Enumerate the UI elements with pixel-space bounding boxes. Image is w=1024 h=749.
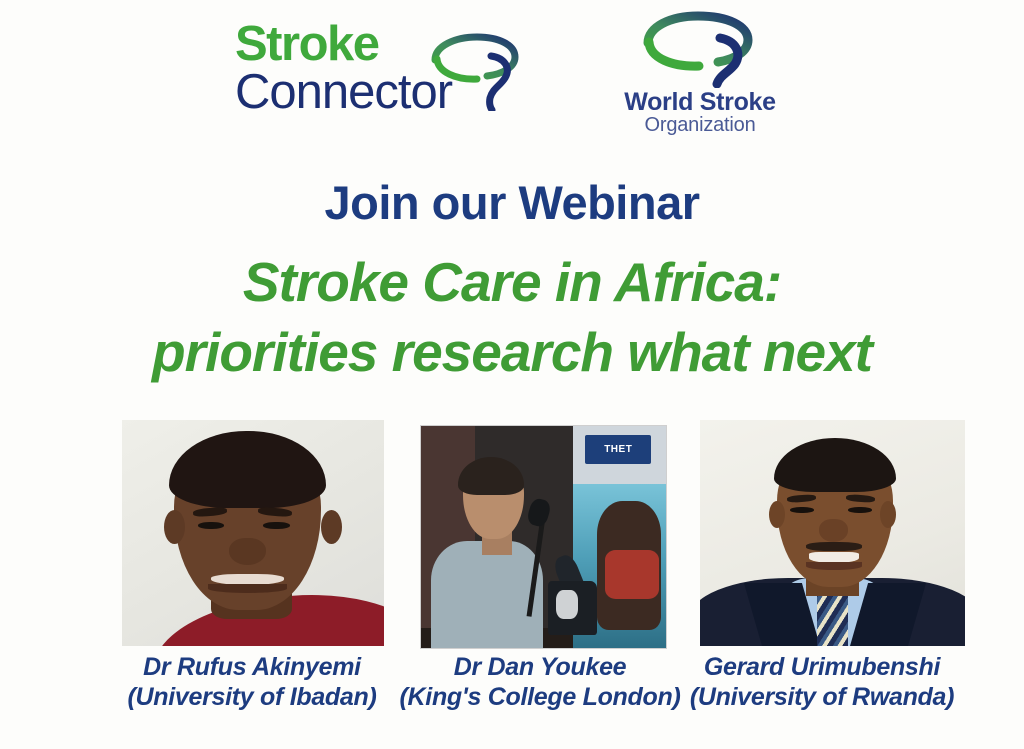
world-stroke-organization-logo: World Stroke Organization: [600, 10, 800, 140]
photo-ear-left: [164, 510, 185, 544]
speaker-affiliation-3: (University of Rwanda): [672, 682, 972, 712]
world-stroke-brain-swoosh-icon: [636, 10, 764, 88]
webinar-poster: Stroke Connector: [0, 0, 1024, 749]
speaker-name-3: Gerard Urimubenshi: [672, 652, 972, 682]
stroke-connector-logo: Stroke Connector: [235, 18, 535, 128]
webinar-title-line-1: Stroke Care in Africa:: [0, 251, 1024, 313]
speaker-name-2: Dr Dan Youkee: [390, 652, 690, 682]
photo-lower-lip: [806, 562, 862, 570]
headline: Join our Webinar: [0, 176, 1024, 230]
speaker-card-2: THET Dr Dan Youkee (King's College Londo…: [390, 420, 690, 720]
photo-banner-cloth: [605, 550, 659, 599]
logo-row: Stroke Connector: [0, 6, 1024, 146]
speaker-photo-2: THET: [420, 425, 667, 649]
webinar-title-line-2: priorities research what next: [0, 321, 1024, 383]
photo-body: [431, 541, 544, 649]
photo-ear-left: [769, 501, 785, 528]
photo-nose: [229, 538, 266, 565]
photo-camera-lens: [556, 590, 578, 619]
stroke-connector-word-connector: Connector: [235, 66, 452, 118]
world-stroke-logo-line2: Organization: [600, 114, 800, 137]
thet-banner-logo: THET: [585, 435, 651, 464]
speaker-name-1: Dr Rufus Akinyemi: [102, 652, 402, 682]
stroke-connector-word-stroke: Stroke: [235, 18, 379, 70]
speaker-affiliation-2: (King's College London): [390, 682, 690, 712]
stroke-connector-swoosh-icon: [425, 26, 525, 111]
photo-eye-left: [198, 522, 224, 529]
photo-teeth: [809, 552, 859, 562]
speaker-photo-1: [122, 420, 384, 646]
photo-eye-right: [263, 522, 289, 529]
speaker-row: Dr Rufus Akinyemi (University of Ibadan)…: [0, 420, 1024, 720]
speaker-affiliation-1: (University of Ibadan): [102, 682, 402, 712]
thet-banner-text: THET: [585, 435, 651, 464]
world-stroke-logo-line1: World Stroke: [600, 88, 800, 116]
photo-moustache: [806, 542, 862, 551]
photo-striped-tie: [817, 594, 849, 646]
speaker-card-3: Gerard Urimubenshi (University of Rwanda…: [672, 420, 972, 720]
photo-lower-lip: [208, 584, 287, 593]
speaker-card-1: Dr Rufus Akinyemi (University of Ibadan): [102, 420, 402, 720]
speaker-photo-3: [700, 420, 965, 646]
